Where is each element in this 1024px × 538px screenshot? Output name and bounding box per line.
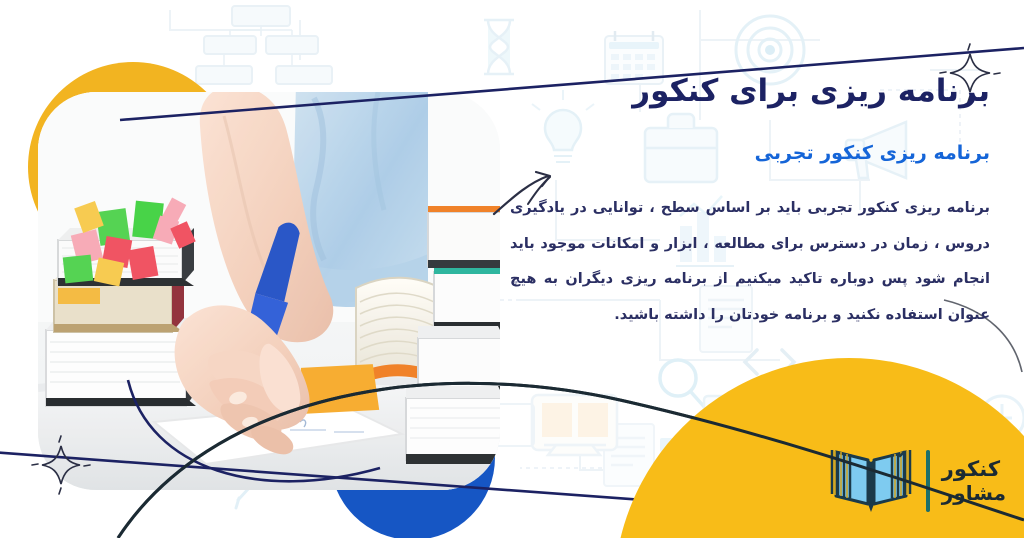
brand-logo-line2: مشاور [942,483,1006,504]
banner-root: برنامه ریزی برای کنکور برنامه ریزی کنکور… [0,0,1024,538]
brand-logo-text: کنکور مشاور [942,458,1006,503]
page-title: برنامه ریزی برای کنکور [510,72,990,111]
brand-logo-line1: کنکور [942,458,1000,480]
page-subtitle: برنامه ریزی کنکور تجربی [510,141,990,166]
open-book-icon [828,442,914,520]
brand-logo-divider [926,450,930,512]
body-paragraph: برنامه ریزی کنکور تجربی باید بر اساس سطح… [510,191,990,333]
hero-photo [38,92,500,490]
text-column: برنامه ریزی برای کنکور برنامه ریزی کنکور… [510,72,990,334]
brand-logo[interactable]: کنکور مشاور [828,442,1006,520]
